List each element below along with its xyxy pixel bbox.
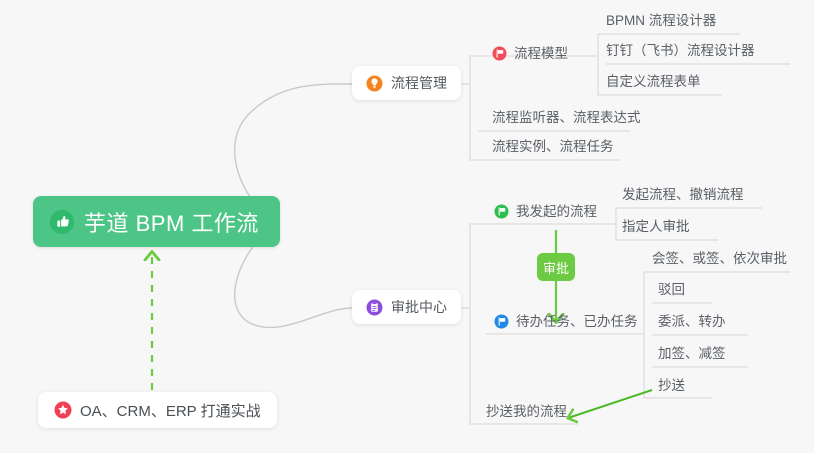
branch-label-approval-center: 审批中心 (391, 297, 447, 317)
approve-badge: 审批 (537, 253, 575, 281)
leaf-cc[interactable]: 抄送 (658, 379, 685, 393)
green-flag-icon (494, 204, 509, 219)
leaf-listener-expression[interactable]: 流程监听器、流程表达式 (492, 111, 641, 125)
branch-node-process-management[interactable]: 流程管理 (352, 66, 461, 100)
leaf-label-instance-task: 流程实例、流程任务 (492, 140, 614, 154)
root-node[interactable]: 芋道 BPM 工作流 (33, 196, 280, 247)
leaf-custom-process-form[interactable]: 自定义流程表单 (606, 75, 701, 89)
bracket-process-model (598, 34, 606, 95)
leaf-label-listener-expression: 流程监听器、流程表达式 (492, 111, 641, 125)
leaf-label-my-initiated: 我发起的流程 (516, 205, 597, 219)
leaf-designated-approver[interactable]: 指定人审批 (622, 220, 690, 234)
blue-flag-icon (494, 314, 509, 329)
bracket-todo-done (644, 272, 652, 398)
leaf-label-countersign: 会签、或签、依次审批 (652, 252, 787, 266)
leaf-label-dingtalk-feishu-designer: 钉钉（飞书）流程设计器 (606, 44, 755, 58)
purple-doc-icon (366, 299, 383, 316)
leaf-label-bpmn-designer: BPMN 流程设计器 (606, 14, 716, 28)
leaf-label-todo-done-tasks: 待办任务、已办任务 (516, 315, 638, 329)
arrow-cc-to-ccme (568, 390, 652, 418)
leaf-label-designated-approver: 指定人审批 (622, 220, 690, 234)
root-label: 芋道 BPM 工作流 (84, 206, 259, 238)
leaf-label-delegate-transfer: 委派、转办 (658, 315, 726, 329)
leaf-delegate-transfer[interactable]: 委派、转办 (658, 315, 726, 329)
callout-node-oa-crm-erp[interactable]: OA、CRM、ERP 打通实战 (38, 392, 277, 428)
branch-label-process-management: 流程管理 (391, 73, 447, 93)
thumbs-up-icon (49, 209, 75, 235)
bracket-process-management (470, 56, 478, 160)
leaf-label-cc-to-me: 抄送我的流程 (486, 405, 567, 419)
leaf-process-model[interactable]: 流程模型 (492, 46, 568, 61)
leaf-dingtalk-feishu-designer[interactable]: 钉钉（飞书）流程设计器 (606, 44, 755, 58)
mindmap-canvas: 审批 芋道 BPM 工作流 流程管理 (0, 0, 814, 453)
bracket-approval-center (470, 224, 486, 424)
leaf-start-cancel-process[interactable]: 发起流程、撤销流程 (622, 188, 744, 202)
leaf-label-process-model: 流程模型 (514, 47, 568, 61)
branch-node-approval-center[interactable]: 审批中心 (352, 290, 461, 324)
leaf-label-add-remove-sign: 加签、减签 (658, 347, 726, 361)
leaf-todo-done-tasks[interactable]: 待办任务、已办任务 (494, 314, 638, 329)
leaf-label-reject: 驳回 (658, 283, 685, 297)
leaf-label-custom-process-form: 自定义流程表单 (606, 75, 701, 89)
red-flag-icon (492, 46, 507, 61)
callout-label-oa-crm-erp: OA、CRM、ERP 打通实战 (80, 400, 261, 421)
leaf-instance-task[interactable]: 流程实例、流程任务 (492, 140, 614, 154)
leaf-add-remove-sign[interactable]: 加签、减签 (658, 347, 726, 361)
leaf-cc-to-me[interactable]: 抄送我的流程 (486, 405, 567, 419)
lightbulb-icon (366, 75, 383, 92)
leaf-countersign[interactable]: 会签、或签、依次审批 (652, 252, 787, 266)
leaf-reject[interactable]: 驳回 (658, 283, 685, 297)
leaf-bpmn-designer[interactable]: BPMN 流程设计器 (606, 14, 716, 28)
leaf-label-start-cancel-process: 发起流程、撤销流程 (622, 188, 744, 202)
star-icon (54, 401, 72, 419)
leaf-label-cc: 抄送 (658, 379, 685, 393)
leaf-my-initiated[interactable]: 我发起的流程 (494, 204, 597, 219)
